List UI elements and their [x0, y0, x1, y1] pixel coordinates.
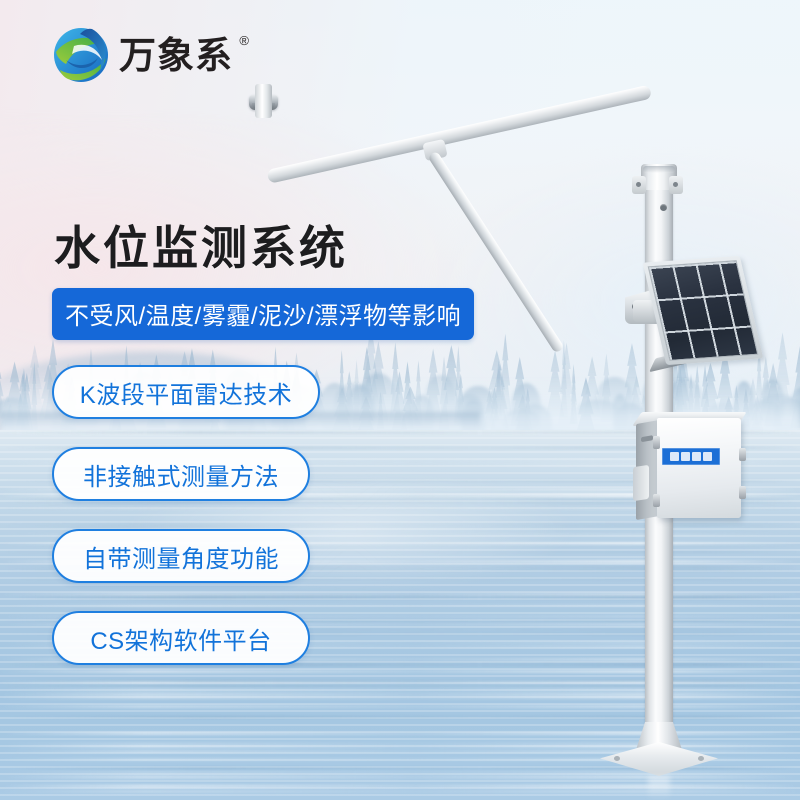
globe-swirl-logo-icon [52, 26, 110, 84]
water-ripple [0, 716, 800, 718]
water-ripple [0, 685, 800, 687]
feature-pill-1[interactable]: K波段平面雷达技术 [52, 365, 320, 419]
brand-name-text: 万象系 [119, 35, 233, 76]
feature-pill-2-label: 非接触式测量方法 [83, 457, 279, 492]
feature-pill-4-label: CS架构软件平台 [90, 621, 271, 656]
feature-pill-4[interactable]: CS架构软件平台 [52, 611, 310, 665]
feature-pill-2[interactable]: 非接触式测量方法 [52, 447, 310, 501]
water-ripple [0, 705, 800, 708]
water-ripple [0, 604, 800, 607]
water-ripple [0, 784, 800, 787]
feature-pill-1-label: K波段平面雷达技术 [80, 375, 293, 410]
water-ripple [0, 431, 800, 433]
water-ripple [0, 750, 800, 753]
water-ripple [0, 742, 800, 745]
water-ripple [0, 680, 800, 682]
feature-pill-3-label: 自带测量角度功能 [83, 539, 279, 574]
water-ripple [0, 696, 800, 699]
water-ripple [0, 732, 800, 735]
poster-canvas: 万象系 ® 水位监测系统 不受风/温度/雾霾/泥沙/漂浮物等影响 K波段平面雷达… [0, 0, 800, 800]
water-ripple [0, 767, 800, 769]
water-ripple [0, 690, 800, 693]
trademark-symbol: ® [239, 34, 250, 47]
brand-header: 万象系 ® [52, 26, 233, 84]
water-ripple [0, 597, 800, 599]
feature-pill-3[interactable]: 自带测量角度功能 [52, 529, 310, 583]
water-ripple [0, 595, 800, 597]
brand-name: 万象系 ® [119, 37, 233, 74]
water-ripple [0, 790, 800, 793]
hero-subtitle-badge: 不受风/温度/雾霾/泥沙/漂浮物等影响 [52, 288, 474, 340]
water-ripple [0, 776, 800, 779]
water-ripple [0, 745, 800, 748]
water-ripple [0, 670, 800, 673]
water-ripple [0, 758, 800, 761]
page-title: 水位监测系统 [54, 212, 348, 278]
